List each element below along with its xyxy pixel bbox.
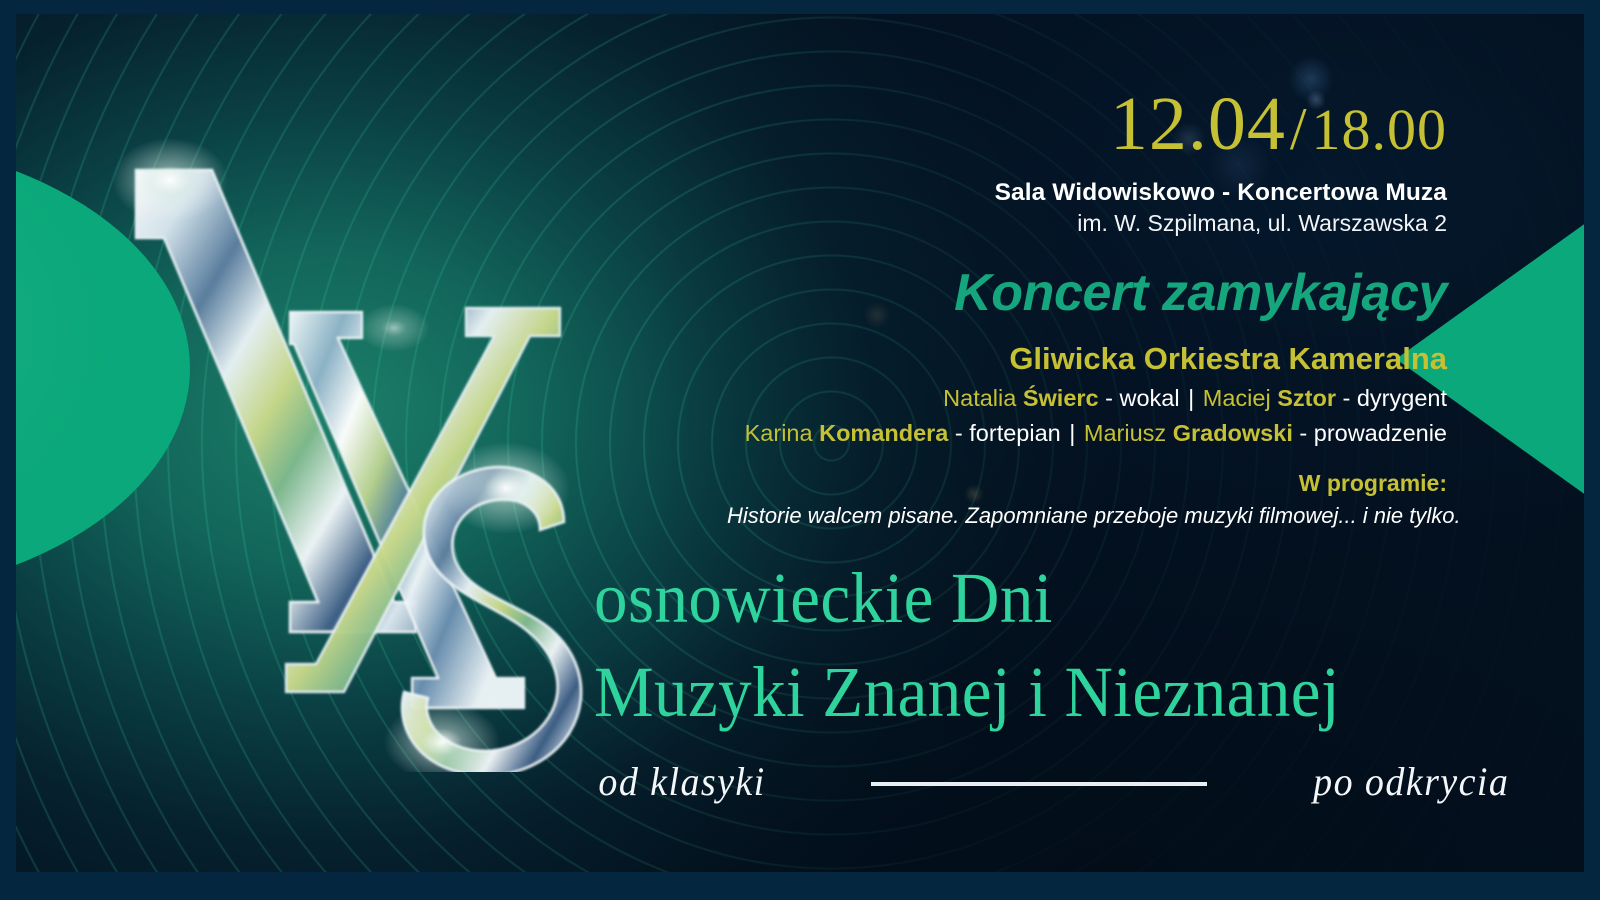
performer-role: - fortepian <box>955 420 1061 446</box>
performer-last-name: Gradowski <box>1173 420 1293 446</box>
concert-title: Koncert zamykający <box>727 263 1447 323</box>
performer-row: Karina Komandera - fortepian | Mariusz G… <box>727 420 1447 447</box>
event-time: 18.00 <box>1312 97 1448 162</box>
performer-role: - dyrygent <box>1343 385 1448 411</box>
performer-separator: | <box>1067 420 1077 446</box>
performer-row: Natalia Świerc - wokal | Maciej Sztor - … <box>727 385 1447 412</box>
festival-title-line-2: Muzyki Znanej i Nieznanej <box>594 656 1450 728</box>
performer-first-name: Karina <box>745 420 813 446</box>
event-info-block: 12.04/18.00 Sala Widowiskowo - Koncertow… <box>727 86 1447 529</box>
tagline-divider <box>871 782 1207 786</box>
performer-role: - wokal <box>1105 385 1179 411</box>
programme-label: W programie: <box>727 470 1447 497</box>
poster-stage: 12.04/18.00 Sala Widowiskowo - Koncertow… <box>16 14 1584 872</box>
ensemble-name: Gliwicka Orkiestra Kameralna <box>727 341 1447 377</box>
venue-address: im. W. Szpilmana, ul. Warszawska 2 <box>727 210 1447 237</box>
performer-separator: | <box>1186 385 1196 411</box>
date-time-separator: / <box>1286 96 1312 162</box>
festival-tagline: od klasyki po odkrycia <box>594 758 1514 805</box>
tagline-right: po odkrycia <box>1313 758 1509 805</box>
venue-name: Sala Widowiskowo - Koncertowa Muza <box>727 179 1447 207</box>
festival-title-line-1: osnowieckie Dni <box>594 562 1450 634</box>
performer-first-name: Natalia <box>943 385 1016 411</box>
performer-first-name: Mariusz <box>1084 420 1166 446</box>
concert-poster: 12.04/18.00 Sala Widowiskowo - Koncertow… <box>0 0 1600 900</box>
event-date: 12.04 <box>1110 82 1286 166</box>
festival-title: osnowieckie Dni Muzyki Znanej i Nieznane… <box>594 562 1514 728</box>
event-datetime: 12.04/18.00 <box>727 86 1447 162</box>
tagline-left: od klasyki <box>598 758 765 805</box>
performer-last-name: Sztor <box>1277 385 1336 411</box>
programme-description: Historie walcem pisane. Zapomniane przeb… <box>727 503 1447 529</box>
performer-first-name: Maciej <box>1203 385 1271 411</box>
performer-last-name: Świerc <box>1023 385 1099 411</box>
performer-last-name: Komandera <box>819 420 948 446</box>
performer-role: - prowadzenie <box>1299 420 1447 446</box>
